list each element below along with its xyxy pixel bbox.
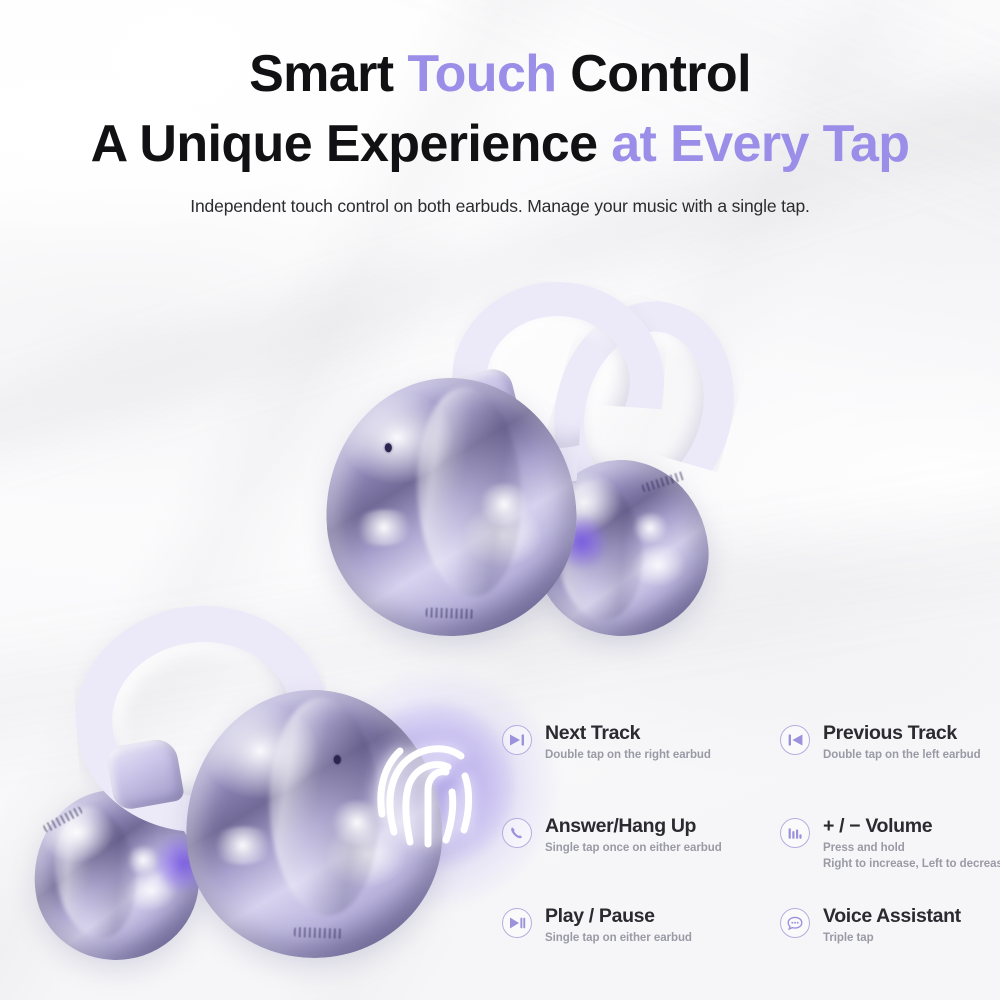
phone-call-icon[interactable] — [502, 818, 532, 848]
headline-line1-part1: Smart — [249, 45, 407, 103]
previous-track-icon[interactable] — [780, 725, 810, 755]
feature-previous-track-text: Previous Track Double tap on the left ea… — [823, 722, 981, 763]
feature-title: + / − Volume — [823, 815, 1000, 838]
feature-play-pause[interactable]: Play / Pause Single tap on either earbud — [502, 905, 780, 946]
feature-subtitle: Double tap on the left earbud — [823, 748, 981, 763]
earbud-lower-neck — [105, 736, 185, 811]
earbud-upper-rear-grill — [641, 471, 686, 493]
equalizer-volume-icon[interactable] — [780, 818, 810, 848]
product-feature-page: Smart Touch Control A Unique Experience … — [0, 0, 1000, 1000]
next-track-icon[interactable] — [502, 725, 532, 755]
feature-subtitle: Triple tap — [823, 931, 961, 946]
fingerprint-icon — [370, 722, 486, 854]
feature-subtitle-secondary: Right to increase, Left to decrease — [823, 857, 1000, 872]
voice-assistant-icon[interactable] — [780, 908, 810, 938]
subtitle: Independent touch control on both earbud… — [0, 196, 1000, 217]
play-pause-icon[interactable] — [502, 908, 532, 938]
feature-title: Answer/Hang Up — [545, 815, 722, 838]
feature-voice-assistant[interactable]: Voice Assistant Triple tap — [780, 905, 994, 946]
feature-title: Play / Pause — [545, 905, 692, 928]
feature-subtitle: Single tap on either earbud — [545, 931, 692, 946]
headline-line1-accent: Touch — [407, 45, 556, 103]
earbud-lower-front-grill — [294, 927, 344, 939]
feature-voice-assistant-text: Voice Assistant Triple tap — [823, 905, 961, 946]
earbud-upper-front-mic — [385, 443, 392, 452]
earbud-upper-front-grill — [425, 607, 473, 619]
headline-block: Smart Touch Control A Unique Experience … — [0, 40, 1000, 179]
feature-subtitle: Single tap once on either earbud — [545, 841, 722, 856]
touch-control-feature-list: Next Track Double tap on the right earbu… — [502, 722, 994, 946]
feature-next-track[interactable]: Next Track Double tap on the right earbu… — [502, 722, 780, 815]
feature-answer-hang-up-text: Answer/Hang Up Single tap once on either… — [545, 815, 722, 856]
feature-play-pause-text: Play / Pause Single tap on either earbud — [545, 905, 692, 946]
feature-title: Voice Assistant — [823, 905, 961, 928]
headline-line2-accent: at Every Tap — [611, 115, 909, 173]
headline-line2-part1: A Unique Experience — [91, 115, 612, 173]
earbud-lower-front-specular-b — [208, 825, 277, 865]
earbud-upper-front-specular-b — [350, 508, 418, 547]
headline-line-2: A Unique Experience at Every Tap — [0, 110, 1000, 180]
feature-subtitle: Press and hold — [823, 841, 1000, 856]
headline-line1-part2: Control — [556, 45, 751, 103]
feature-subtitle: Double tap on the right earbud — [545, 748, 711, 763]
feature-volume-text: + / − Volume Press and hold Right to inc… — [823, 815, 1000, 873]
headline-line-1: Smart Touch Control — [0, 40, 1000, 110]
feature-title: Previous Track — [823, 722, 981, 745]
feature-answer-hang-up[interactable]: Answer/Hang Up Single tap once on either… — [502, 815, 780, 905]
feature-volume[interactable]: + / − Volume Press and hold Right to inc… — [780, 815, 994, 905]
feature-title: Next Track — [545, 722, 711, 745]
feature-previous-track[interactable]: Previous Track Double tap on the left ea… — [780, 722, 994, 815]
feature-next-track-text: Next Track Double tap on the right earbu… — [545, 722, 711, 763]
